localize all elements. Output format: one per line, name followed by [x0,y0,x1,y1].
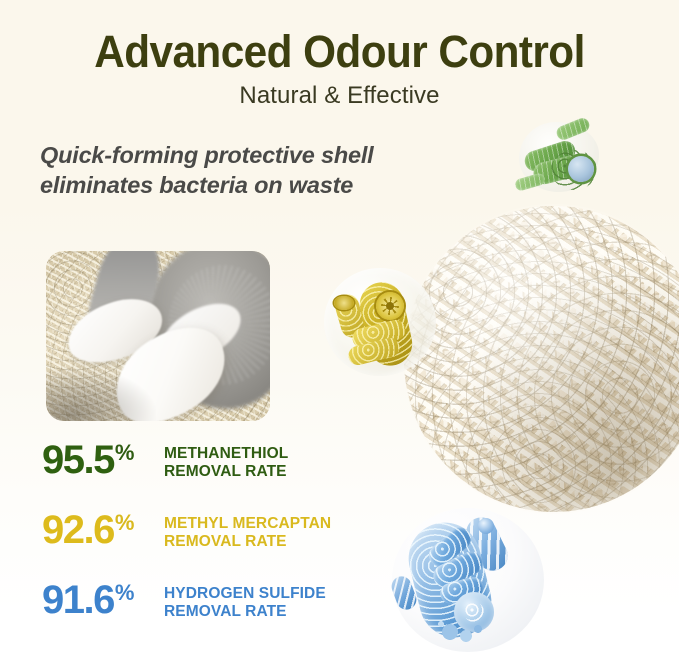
stat-value: 95.5 [42,440,114,480]
photo-shadow [46,367,156,421]
cat-paw-photo [46,251,270,421]
infographic-canvas: Advanced Odour Control Natural & Effecti… [0,0,679,665]
stat-percent-sign: % [115,582,135,604]
lede-statement: Quick-forming protective shell eliminate… [40,140,390,200]
microbe-green-illustration [511,116,607,198]
microbe-gold-ring-small [334,296,354,310]
microbe-gold-flower-structure [376,292,404,320]
microbe-blue-cap-dot [478,518,494,534]
microbe-green-nucleus [568,156,594,182]
stat-row-methanethiol: 95.5 % METHANETHIOL REMOVAL RATE [0,440,420,510]
stat-row-hydrogen-sulfide: 91.6 % HYDROGEN SULFIDE REMOVAL RATE [0,580,420,650]
stat-percent-sign: % [115,512,135,534]
microbe-blue-bubbles [438,620,488,646]
stat-label: METHANETHIOL REMOVAL RATE [164,440,288,481]
stat-value-group: 92.6 % [42,510,164,550]
microbe-gold-illustration [324,268,436,376]
stat-label: METHYL MERCAPTAN REMOVAL RATE [164,510,331,551]
stat-value-group: 91.6 % [42,580,164,620]
removal-rate-stats: 95.5 % METHANETHIOL REMOVAL RATE 92.6 % … [0,440,420,650]
stat-label: HYDROGEN SULFIDE REMOVAL RATE [164,580,326,621]
microbe-green-stripe [514,172,546,192]
page-title: Advanced Odour Control [20,26,658,78]
stat-value: 91.6 [42,580,114,620]
stat-percent-sign: % [115,442,135,464]
microbe-green-rod-small-bottom [514,172,546,192]
page-subtitle: Natural & Effective [0,82,679,110]
stat-value: 92.6 [42,510,114,550]
stat-row-methyl-mercaptan: 92.6 % METHYL MERCAPTAN REMOVAL RATE [0,510,420,580]
stat-value-group: 95.5 % [42,440,164,480]
pellet-mound-image [404,206,679,512]
